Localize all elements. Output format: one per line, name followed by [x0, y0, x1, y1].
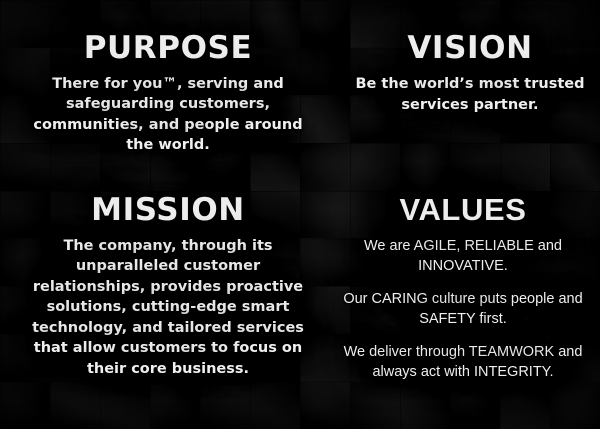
- values-block: VALUES We are AGILE, RELIABLE and INNOVA…: [340, 194, 586, 395]
- mission-paragraph: The company, through its unparalleled cu…: [18, 236, 318, 380]
- purpose-vision-mission-values-poster: PURPOSE There for you™, serving and safe…: [0, 0, 600, 429]
- purpose-body: There for you™, serving and safeguarding…: [18, 74, 318, 156]
- vision-body: Be the world’s most trusted services par…: [355, 74, 585, 117]
- mosaic-tile: [50, 382, 150, 429]
- vision-block: VISION Be the world’s most trusted servi…: [355, 32, 585, 116]
- values-paragraph-1: We are AGILE, RELIABLE and INNOVATIVE.: [340, 236, 586, 276]
- mission-body: The company, through its unparalleled cu…: [18, 236, 318, 380]
- mission-block: MISSION The company, through its unparal…: [18, 194, 318, 380]
- values-body: We are AGILE, RELIABLE and INNOVATIVE. O…: [340, 236, 586, 382]
- mosaic-tile: [450, 143, 550, 191]
- purpose-paragraph: There for you™, serving and safeguarding…: [18, 74, 318, 156]
- mission-heading: MISSION: [18, 194, 318, 227]
- mosaic-tile: [150, 382, 200, 429]
- mosaic-tile: [200, 382, 300, 429]
- vision-heading: VISION: [355, 32, 585, 65]
- mosaic-tile: [550, 143, 600, 191]
- mosaic-tile: [0, 382, 50, 429]
- vision-paragraph: Be the world’s most trusted services par…: [355, 74, 585, 117]
- values-paragraph-2: Our CARING culture puts people and SAFET…: [340, 289, 586, 329]
- purpose-block: PURPOSE There for you™, serving and safe…: [18, 32, 318, 156]
- values-paragraph-3: We deliver through TEAMWORK and always a…: [340, 342, 586, 382]
- purpose-heading: PURPOSE: [18, 32, 318, 65]
- mosaic-tile: [400, 143, 450, 191]
- values-heading: VALUES: [340, 194, 586, 227]
